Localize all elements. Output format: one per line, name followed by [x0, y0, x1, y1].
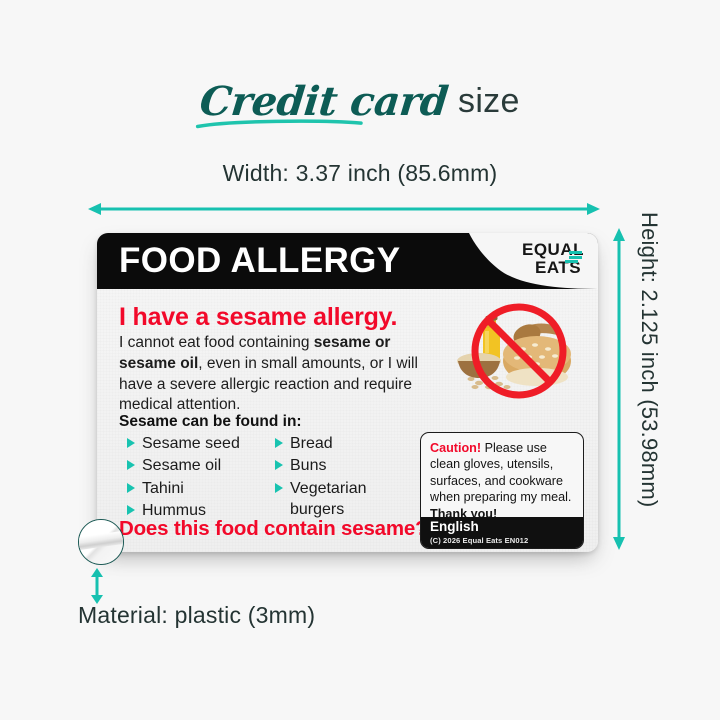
allergy-card[interactable]: FOOD ALLERGY EQUAL EATS I have a sesame …: [97, 233, 598, 552]
card-header: FOOD ALLERGY EQUAL EATS: [97, 233, 598, 289]
found-in-title: Sesame can be found in:: [119, 413, 302, 431]
width-arrow-icon: [88, 200, 600, 218]
allergy-question: Does this food contain sesame?: [119, 517, 427, 541]
script-title: Credit card: [198, 78, 451, 125]
triangle-bullet-icon: [127, 483, 135, 493]
equal-eats-logo: EQUAL EATS: [522, 241, 584, 276]
material-label: Material: plastic (3mm): [78, 602, 315, 629]
found-list-right: Bread Buns Vegetarian burgers: [275, 433, 405, 522]
triangle-bullet-icon: [127, 438, 135, 448]
list-item: Sesame seed: [127, 433, 257, 454]
found-in-lists: Sesame seed Sesame oil Tahini Hummus Bre…: [127, 433, 417, 522]
card-title: FOOD ALLERGY: [119, 241, 401, 281]
height-arrow-icon: [610, 228, 628, 550]
thickness-arrow-icon: [88, 568, 106, 604]
width-label: Width: 3.37 inch (85.6mm): [0, 160, 720, 187]
list-item: Sesame oil: [127, 455, 257, 476]
equals-mark-t-icon: [565, 260, 578, 263]
triangle-bullet-icon: [275, 460, 283, 470]
list-item: Buns: [275, 455, 405, 476]
caution-red-word: Caution!: [430, 441, 481, 455]
no-sesame-image: [449, 299, 589, 404]
caution-box: Caution! Please use clean gloves, utensi…: [420, 432, 584, 549]
list-item: Tahini: [127, 478, 257, 499]
list-item: Vegetarian burgers: [275, 478, 405, 521]
caution-text: Caution! Please use clean gloves, utensi…: [421, 433, 583, 523]
list-item-label: Vegetarian burgers: [290, 478, 405, 521]
list-item-label: Buns: [290, 455, 326, 476]
list-item-label: Sesame seed: [142, 433, 240, 454]
title-size-word: size: [458, 82, 520, 121]
allergy-lead: I have a sesame allergy.: [119, 303, 397, 332]
height-label: Height: 2.125 inch (53.98mm): [634, 212, 662, 564]
language-label: English: [430, 520, 583, 535]
page-root: Credit card size Width: 3.37 inch (85.6m…: [0, 0, 720, 720]
triangle-bullet-icon: [275, 438, 283, 448]
list-item-label: Sesame oil: [142, 455, 221, 476]
copyright-label: (C) 2026 Equal Eats EN012: [430, 536, 583, 545]
list-item-label: Tahini: [142, 478, 184, 499]
triangle-bullet-icon: [275, 483, 283, 493]
thickness-magnifier: [78, 519, 124, 565]
found-list-left: Sesame seed Sesame oil Tahini Hummus: [127, 433, 257, 522]
equals-mark-upper-icon: [569, 251, 582, 254]
body-part-1: I cannot eat food containing: [119, 334, 314, 351]
triangle-bullet-icon: [127, 460, 135, 470]
script-title-wrap: Credit card: [200, 78, 448, 125]
list-item: Bread: [275, 433, 405, 454]
allergy-body: I cannot eat food containing sesame or s…: [119, 333, 419, 416]
underline-swoosh-icon: [196, 119, 363, 129]
list-item-label: Bread: [290, 433, 333, 454]
caution-footer: English (C) 2026 Equal Eats EN012: [421, 517, 583, 548]
triangle-bullet-icon: [127, 505, 135, 515]
page-title: Credit card size: [0, 78, 720, 125]
